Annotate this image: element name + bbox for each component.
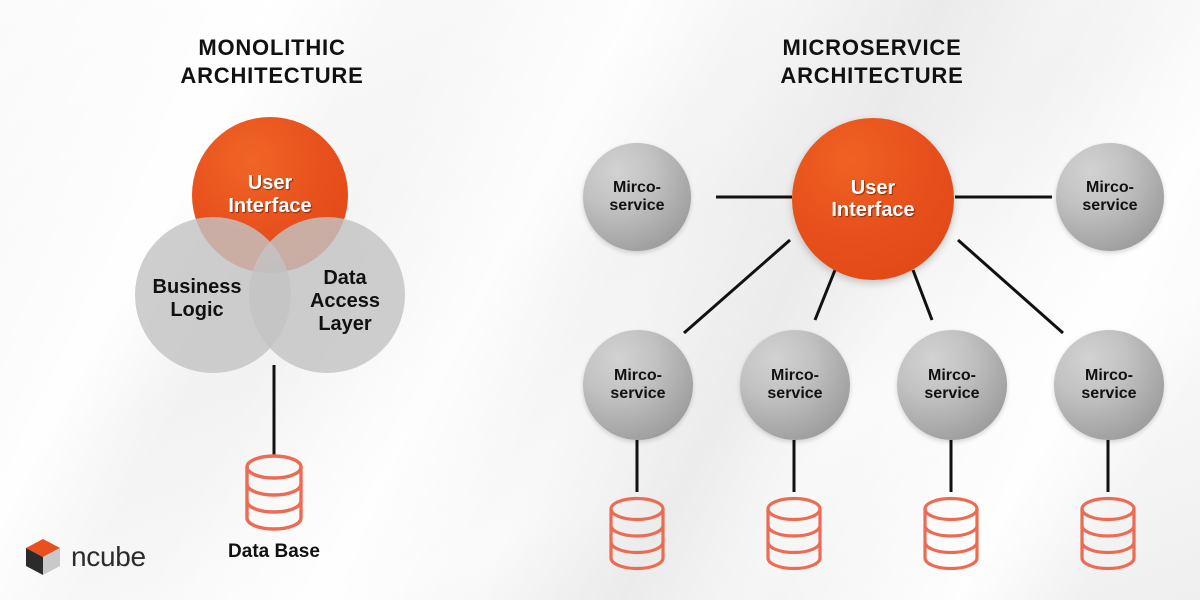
service-1-label: Mirco- service: [610, 367, 665, 403]
hub-line2: Interface: [831, 199, 914, 221]
service-node-2[interactable]: Mirco- service: [740, 330, 850, 440]
service-4-line2: service: [1081, 385, 1136, 403]
microservice-title-line2: ARCHITECTURE: [722, 62, 1022, 90]
service-left-label: Mirco- service: [609, 179, 664, 215]
edge-hub-to-service-2: [815, 270, 835, 320]
database-cylinder-icon-service-3[interactable]: [917, 495, 985, 575]
edge-hub-to-service-3: [913, 270, 932, 320]
service-2-label: Mirco- service: [767, 367, 822, 403]
venn-circle-data-access-layer[interactable]: Data Access Layer: [249, 217, 405, 373]
hub-line1: User: [831, 177, 914, 199]
service-right-line1: Mirco-: [1082, 179, 1137, 197]
venn-data-access-layer-label: Data Access Layer: [310, 267, 380, 336]
service-3-line1: Mirco-: [924, 367, 979, 385]
brand-logo[interactable]: ncube: [24, 537, 146, 577]
venn-bl-line2: Logic: [153, 299, 242, 322]
service-node-3[interactable]: Mirco- service: [897, 330, 1007, 440]
database-cylinder-icon-service-4[interactable]: [1074, 495, 1142, 575]
database-cylinder-icon-monolith[interactable]: [238, 452, 310, 536]
venn-business-logic-label: Business Logic: [153, 276, 242, 322]
hub-label: User Interface: [831, 177, 914, 222]
brand-name: ncube: [71, 541, 146, 573]
service-4-label: Mirco- service: [1081, 367, 1136, 403]
service-right-label: Mirco- service: [1082, 179, 1137, 215]
venn-dal-line1: Data: [310, 267, 380, 290]
service-1-line1: Mirco-: [610, 367, 665, 385]
venn-dal-line2: Access: [310, 290, 380, 313]
database-cylinder-icon-service-2[interactable]: [760, 495, 828, 575]
service-node-left[interactable]: Mirco- service: [583, 143, 691, 251]
isometric-cube-logo-icon: [24, 537, 62, 577]
monolithic-title-line2: ARCHITECTURE: [122, 62, 422, 90]
service-node-4[interactable]: Mirco- service: [1054, 330, 1164, 440]
venn-bl-line1: Business: [153, 276, 242, 299]
venn-dal-line3: Layer: [310, 313, 380, 336]
diagram-canvas: MONOLITHIC ARCHITECTURE MICROSERVICE ARC…: [0, 0, 1200, 600]
venn-user-interface-label: User Interface: [228, 172, 311, 218]
service-node-1[interactable]: Mirco- service: [583, 330, 693, 440]
service-3-line2: service: [924, 385, 979, 403]
service-3-label: Mirco- service: [924, 367, 979, 403]
database-cylinder-icon-service-1[interactable]: [603, 495, 671, 575]
hub-user-interface[interactable]: User Interface: [792, 118, 954, 280]
monolithic-title-line1: MONOLITHIC: [122, 34, 422, 62]
venn-ui-line2: Interface: [228, 195, 311, 218]
edge-hub-to-service-1: [684, 240, 790, 333]
service-2-line1: Mirco-: [767, 367, 822, 385]
edge-hub-to-service-4: [958, 240, 1063, 333]
service-2-line2: service: [767, 385, 822, 403]
microservice-title: MICROSERVICE ARCHITECTURE: [722, 34, 1022, 90]
service-node-right[interactable]: Mirco- service: [1056, 143, 1164, 251]
service-left-line2: service: [609, 197, 664, 215]
microservice-title-line1: MICROSERVICE: [722, 34, 1022, 62]
service-1-line2: service: [610, 385, 665, 403]
service-right-line2: service: [1082, 197, 1137, 215]
service-left-line1: Mirco-: [609, 179, 664, 197]
service-4-line1: Mirco-: [1081, 367, 1136, 385]
venn-ui-line1: User: [228, 172, 311, 195]
monolithic-title: MONOLITHIC ARCHITECTURE: [122, 34, 422, 90]
monolith-database-label: Data Base: [194, 541, 354, 563]
